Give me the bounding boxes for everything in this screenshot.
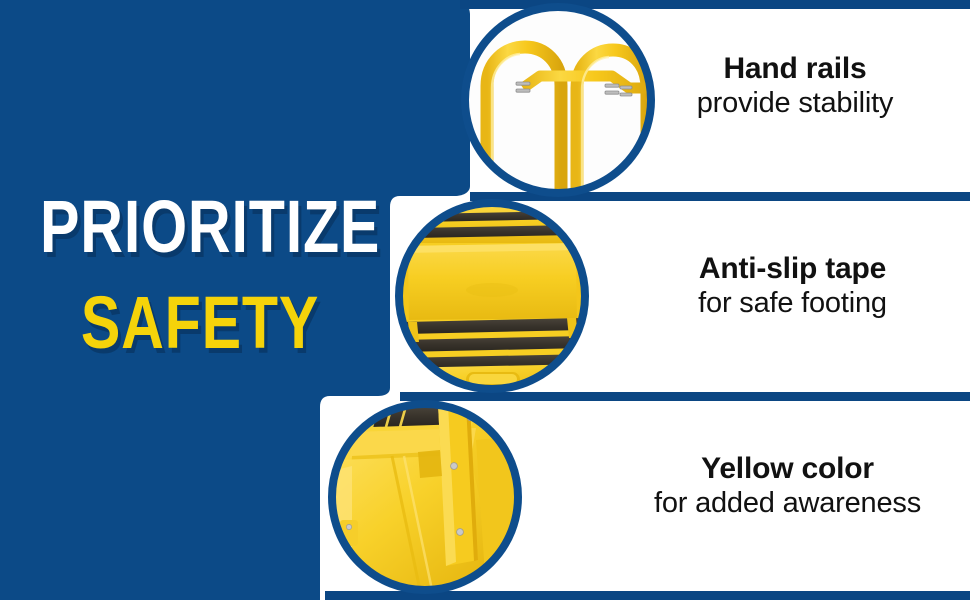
hand-rails-photo <box>465 7 655 196</box>
divider-bar-2 <box>400 392 970 401</box>
safety-banner: PRIORITIZE SAFETY Hand rails provide sta… <box>0 0 970 600</box>
banner-artwork <box>0 0 970 600</box>
yellow-step-photo <box>332 404 518 590</box>
